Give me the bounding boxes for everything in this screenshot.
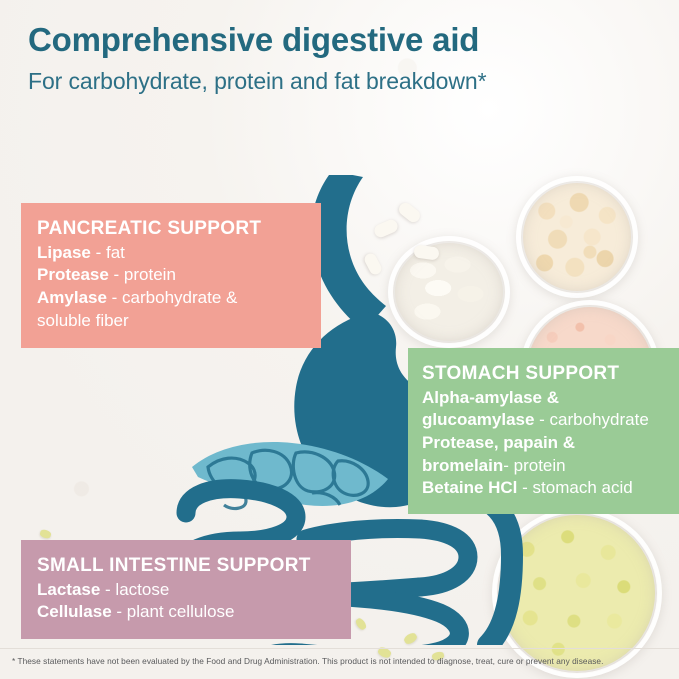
enzyme-target: - fat <box>91 243 125 262</box>
esophagus-shape <box>311 175 386 331</box>
enzyme-name: Alpha-amylase & <box>422 388 559 407</box>
enzyme-name: glucoamylase <box>422 410 534 429</box>
enzyme-name: Lipase <box>37 243 91 262</box>
pancreatic-support-line: Lipase - fat <box>37 242 305 265</box>
footnote-divider <box>0 648 679 649</box>
enzyme-name: Protease <box>37 265 109 284</box>
enzyme-target: - protein <box>503 456 565 475</box>
enzyme-name: Amylase <box>37 288 107 307</box>
enzyme-name: Lactase <box>37 580 100 599</box>
pancreatic-support-line: Amylase - carbohydrate & <box>37 287 305 310</box>
stomach-support-title: STOMACH SUPPORT <box>422 362 665 386</box>
small-intestine-support-line: Cellulase - plant cellulose <box>37 601 335 624</box>
enzyme-name: Protease, papain & <box>422 433 575 452</box>
pancreatic-support-box: PANCREATIC SUPPORT Lipase - fat Protease… <box>21 203 321 348</box>
page-subtitle: For carbohydrate, protein and fat breakd… <box>28 68 658 96</box>
enzyme-name: Betaine HCl <box>422 478 517 497</box>
enzyme-target: - stomach acid <box>517 478 632 497</box>
enzyme-target: soluble fiber <box>37 311 129 330</box>
small-intestine-support-line: Lactase - lactose <box>37 579 335 602</box>
enzyme-target: - carbohydrate <box>534 410 648 429</box>
pancreatic-support-title: PANCREATIC SUPPORT <box>37 217 305 241</box>
enzyme-name: Cellulase <box>37 602 112 621</box>
stomach-support-box: STOMACH SUPPORT Alpha-amylase & glucoamy… <box>408 348 679 514</box>
stomach-support-line: bromelain- protein <box>422 455 665 478</box>
pancreatic-support-line: Protease - protein <box>37 264 305 287</box>
stomach-support-line: Betaine HCl - stomach acid <box>422 477 665 500</box>
small-intestine-support-box: SMALL INTESTINE SUPPORT Lactase - lactos… <box>21 540 351 639</box>
stomach-support-line: glucoamylase - carbohydrate <box>422 409 665 432</box>
enzyme-target: - plant cellulose <box>112 602 235 621</box>
pancreatic-support-line: soluble fiber <box>37 310 305 333</box>
stomach-support-line: Protease, papain & <box>422 432 665 455</box>
header: Comprehensive digestive aid For carbohyd… <box>28 22 658 96</box>
enzyme-target: - lactose <box>100 580 169 599</box>
enzyme-target: - protein <box>109 265 176 284</box>
small-intestine-support-title: SMALL INTESTINE SUPPORT <box>37 554 335 578</box>
page-title: Comprehensive digestive aid <box>28 22 658 59</box>
stomach-support-line: Alpha-amylase & <box>422 387 665 410</box>
enzyme-target: - carbohydrate & <box>107 288 237 307</box>
enzyme-name: bromelain <box>422 456 503 475</box>
footnote-disclaimer: * These statements have not been evaluat… <box>12 656 672 666</box>
